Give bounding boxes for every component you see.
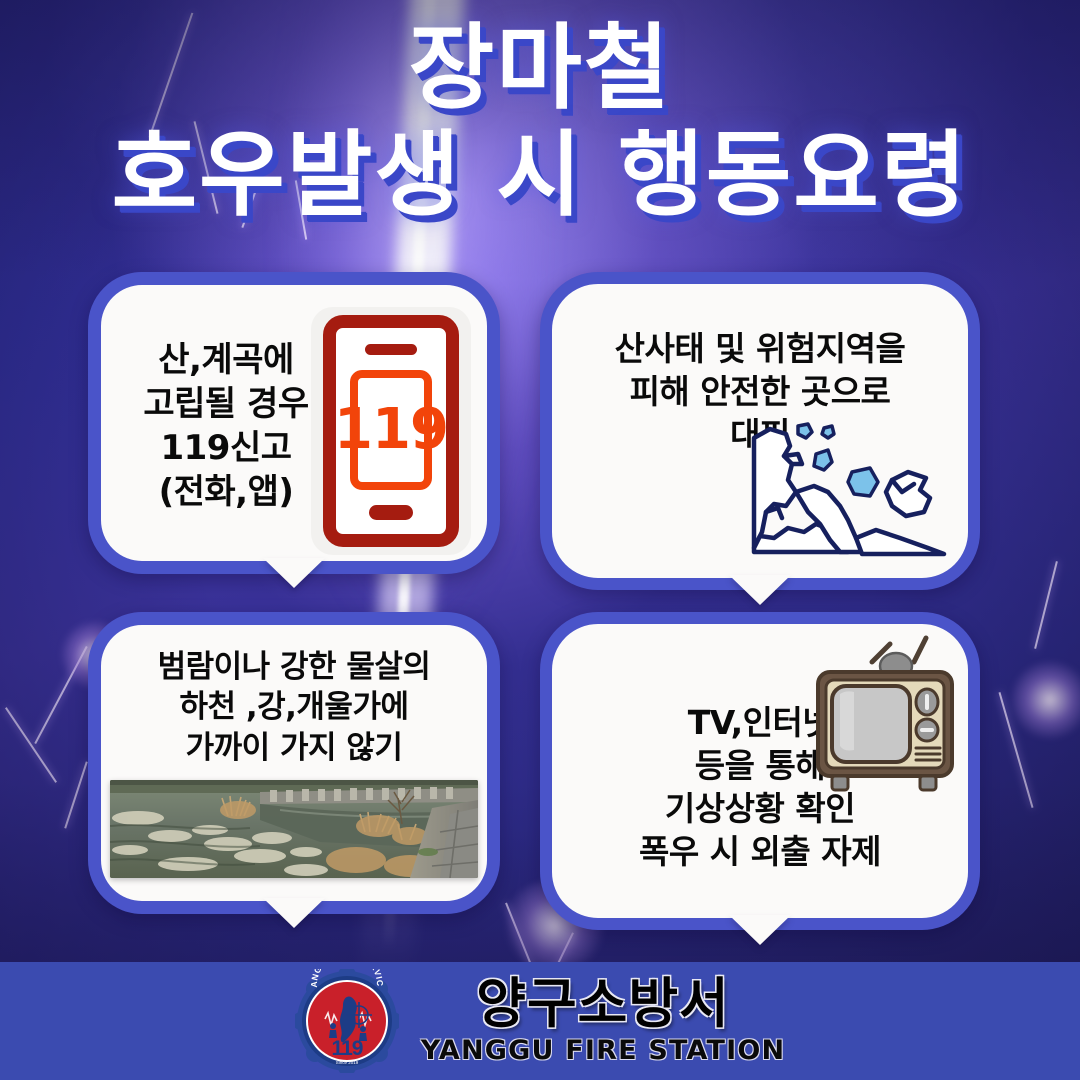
- footer-bar: YANGGU FIRE SERVICE 119 Since 20: [0, 962, 1080, 1080]
- title-line-1: 장마철: [0, 22, 1080, 115]
- phone-119-icon: 119: [311, 307, 471, 555]
- footer-org: 양구소방서 YANGGU FIRE STATION: [421, 977, 786, 1066]
- card-text: 범람이나 강한 물살의 하천 ,강,개울가에 가까이 가지 않기: [101, 647, 487, 768]
- poster-title: 장마철 호우발생 시 행동요령: [0, 22, 1080, 222]
- title-line-2: 호우발생 시 행동요령: [0, 129, 1080, 222]
- card-avoid-river[interactable]: 범람이나 강한 물살의 하천 ,강,개울가에 가까이 가지 않기: [88, 612, 500, 914]
- card-isolated-mountain[interactable]: 산,계곡에 고립될 경우 119신고 (전화,앱) 119: [88, 272, 500, 574]
- card-landslide-evacuate[interactable]: 산사태 및 위험지역을 피해 안전한 곳으로 대피: [540, 272, 980, 590]
- phone-screen: 119: [350, 370, 432, 490]
- retro-tv-icon: [810, 632, 960, 800]
- stream-photo: [110, 780, 478, 878]
- phone-speaker-icon: [365, 344, 417, 355]
- emergency-number: 119: [334, 402, 448, 458]
- bubble-tail: [263, 898, 325, 928]
- svg-text:Since 2019: Since 2019: [335, 1060, 358, 1065]
- svg-text:119: 119: [331, 1037, 362, 1060]
- yanggu-fire-service-emblem: YANGGU FIRE SERVICE 119 Since 20: [295, 969, 399, 1073]
- bubble-tail: [729, 575, 791, 605]
- bubble-tail: [729, 915, 791, 945]
- card-check-weather[interactable]: TV,인터넷 등을 통해 기상상황 확인 폭우 시 외출 자제: [540, 612, 980, 930]
- footer-org-ko: 양구소방서: [476, 977, 729, 1031]
- landslide-icon: [744, 420, 956, 572]
- bubble-tail: [263, 558, 325, 588]
- poster-root: 장마철 호우발생 시 행동요령 산,계곡에 고립될 경우 119신고 (전화,앱…: [0, 0, 1080, 1080]
- footer-org-en: YANGGU FIRE STATION: [421, 1035, 786, 1066]
- phone-home-button-icon: [369, 505, 413, 520]
- card-text: 산,계곡에 고립될 경우 119신고 (전화,앱): [111, 338, 341, 515]
